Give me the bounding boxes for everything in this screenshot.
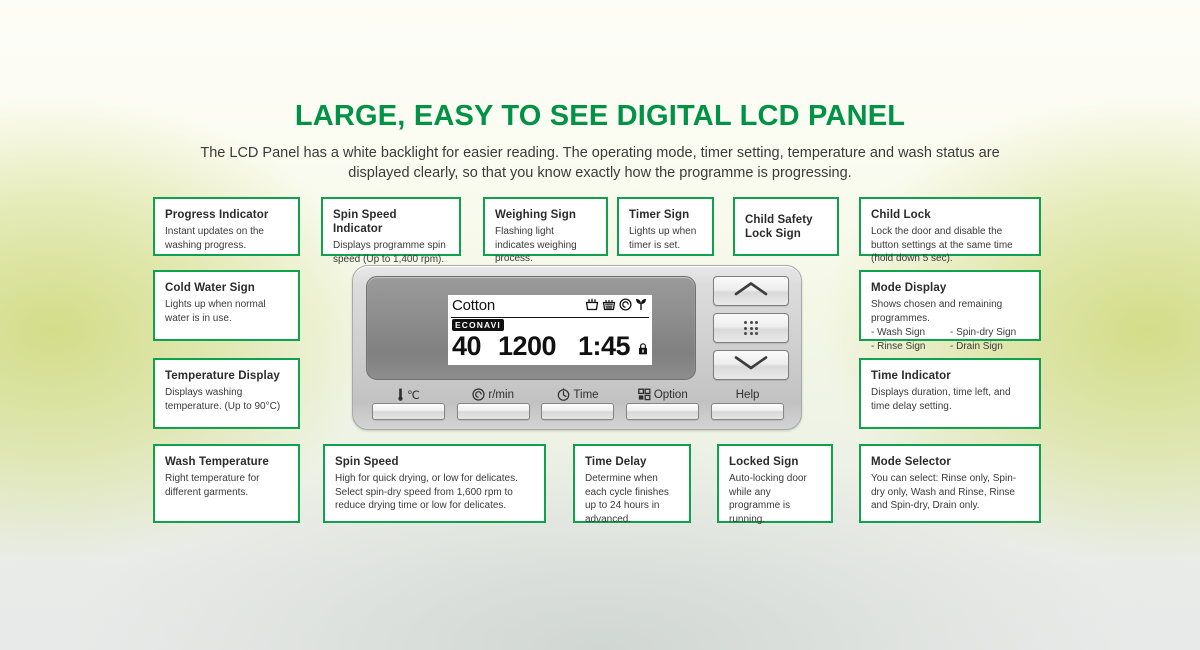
soft-key-button[interactable]: [541, 403, 614, 420]
callout-locked-sign: Locked Sign Auto-locking door while any …: [717, 444, 833, 523]
econavi-badge: ECONAVI: [452, 319, 504, 331]
callout-child-lock: Child Lock Lock the door and disable the…: [859, 197, 1041, 256]
padlock-icon: [632, 331, 648, 363]
menu-grid-icon: [744, 321, 758, 335]
soft-key-button[interactable]: [457, 403, 530, 420]
callout-weighing-sign: Weighing Sign Flashing light indicates w…: [483, 197, 608, 256]
callout-title: Mode Display: [871, 281, 1029, 295]
callout-body: Lock the door and disable the button set…: [871, 225, 1029, 266]
callout-title: Spin Speed: [335, 455, 534, 469]
callout-mode-selector: Mode Selector You can select: Rinse only…: [859, 444, 1041, 523]
wash-sign-icon: [585, 298, 599, 311]
callout-title: Progress Indicator: [165, 208, 288, 222]
callout-spin-speed: Spin Speed High for quick drying, or low…: [323, 444, 546, 523]
soft-key-help[interactable]: Help: [705, 386, 790, 420]
lcd-time-value: 1:45: [570, 331, 632, 362]
lcd-main-readout: 40 1200 1:45: [452, 331, 648, 363]
callout-body: Determine when each cycle finishes up to…: [585, 472, 679, 526]
page-subtitle: The LCD Panel has a white backlight for …: [200, 143, 1000, 183]
callout-mode-display: Mode Display Shows chosen and remaining …: [859, 270, 1041, 341]
soft-key-time[interactable]: Time: [536, 386, 621, 420]
soft-key-option[interactable]: Option: [620, 386, 705, 420]
down-arrow-icon: [734, 355, 768, 375]
callout-progress-indicator: Progress Indicator Instant updates on th…: [153, 197, 300, 256]
callout-title: Time Delay: [585, 455, 679, 469]
soft-key-label: Option: [654, 389, 688, 401]
callout-body: Right temperature for different garments…: [165, 472, 288, 499]
soft-key-label: Help: [736, 389, 760, 401]
callout-time-indicator: Time Indicator Displays duration, time l…: [859, 358, 1041, 429]
lcd-temperature-value: 40: [452, 331, 498, 362]
soft-key-button[interactable]: [711, 403, 784, 420]
mode-sign-item: - Rinse Sign: [871, 340, 950, 354]
mode-display-sign-list: - Wash Sign - Spin-dry Sign - Rinse Sign…: [871, 326, 1029, 354]
soft-key-temperature[interactable]: ℃: [366, 386, 451, 420]
lcd-programme-name: Cotton: [452, 297, 495, 314]
callout-body: Displays washing temperature. (Up to 90°…: [165, 386, 288, 413]
soft-key-label: ℃: [407, 388, 420, 402]
soft-key-label: r/min: [488, 389, 514, 401]
nav-up-button[interactable]: [713, 276, 789, 306]
nav-down-button[interactable]: [713, 350, 789, 380]
thermometer-icon: [397, 388, 404, 401]
up-arrow-icon: [734, 281, 768, 301]
callout-body: Lights up when timer is set.: [629, 225, 702, 252]
callout-body: You can select: Rinse only, Spin-dry onl…: [871, 472, 1029, 513]
callout-spin-speed-indicator: Spin Speed Indicator Displays programme …: [321, 197, 461, 256]
lcd-top-row: Cotton: [451, 296, 649, 318]
callout-time-delay: Time Delay Determine when each cycle fin…: [573, 444, 691, 523]
callout-title: Weighing Sign: [495, 208, 596, 222]
callout-cold-water-sign: Cold Water Sign Lights up when normal wa…: [153, 270, 300, 341]
callout-body: Shows chosen and remaining programmes.: [871, 298, 1029, 325]
callout-wash-temperature: Wash Temperature Right temperature for d…: [153, 444, 300, 523]
soft-key-label-group: r/min: [451, 386, 536, 403]
nav-menu-button[interactable]: [713, 313, 789, 343]
clock-icon: [557, 388, 570, 401]
soft-key-label-group: ℃: [366, 386, 451, 403]
callout-title: Child Safety Lock Sign: [745, 213, 827, 241]
callout-body: Displays programme spin speed (Up to 1,4…: [333, 239, 449, 266]
mode-sign-item: - Drain Sign: [950, 340, 1029, 354]
soft-key-label-group: Time: [536, 386, 621, 403]
callout-body: Auto-locking door while any programme is…: [729, 472, 821, 526]
callout-title: Spin Speed Indicator: [333, 208, 449, 236]
callout-body: Flashing light indicates weighing proces…: [495, 225, 596, 266]
callout-timer-sign: Timer Sign Lights up when timer is set.: [617, 197, 714, 256]
rinse-sign-icon: [602, 298, 616, 311]
soft-key-spin-speed[interactable]: r/min: [451, 386, 536, 420]
option-grid-icon: [638, 388, 651, 401]
soft-key-label: Time: [573, 389, 598, 401]
soft-key-button[interactable]: [626, 403, 699, 420]
mode-sign-item: - Wash Sign: [871, 326, 950, 340]
callout-body: Displays duration, time left, and time d…: [871, 386, 1029, 413]
mode-sign-item: - Spin-dry Sign: [950, 326, 1029, 340]
spin-dry-sign-icon: [619, 298, 632, 311]
lcd-status-icons: [585, 298, 647, 311]
callout-body: Instant updates on the washing progress.: [165, 225, 288, 252]
callout-title: Cold Water Sign: [165, 281, 288, 295]
callout-title: Temperature Display: [165, 369, 288, 383]
lcd-screen: Cotton: [448, 295, 652, 365]
callout-title: Mode Selector: [871, 455, 1029, 469]
callout-title: Locked Sign: [729, 455, 821, 469]
page-title: LARGE, EASY TO SEE DIGITAL LCD PANEL: [0, 100, 1200, 133]
lcd-bezel: Cotton: [366, 276, 696, 380]
callout-title: Timer Sign: [629, 208, 702, 222]
callout-body: High for quick drying, or low for delica…: [335, 472, 534, 513]
spiral-icon: [472, 388, 485, 401]
drain-sign-icon: [635, 298, 647, 311]
callout-title: Wash Temperature: [165, 455, 288, 469]
washing-machine-control-panel: Cotton: [352, 265, 802, 430]
soft-key-button[interactable]: [372, 403, 445, 420]
callout-body: Lights up when normal water is in use.: [165, 298, 288, 325]
callout-title: Time Indicator: [871, 369, 1029, 383]
callout-title: Child Lock: [871, 208, 1029, 222]
callout-temperature-display: Temperature Display Displays washing tem…: [153, 358, 300, 429]
soft-key-label-group: Help: [705, 386, 790, 403]
soft-key-label-group: Option: [620, 386, 705, 403]
infographic-stage: LARGE, EASY TO SEE DIGITAL LCD PANEL The…: [0, 0, 1200, 650]
soft-key-row: ℃ r/min: [366, 386, 790, 420]
callout-child-safety-lock-sign: Child Safety Lock Sign: [733, 197, 839, 256]
lcd-spin-speed-value: 1200: [498, 331, 570, 362]
